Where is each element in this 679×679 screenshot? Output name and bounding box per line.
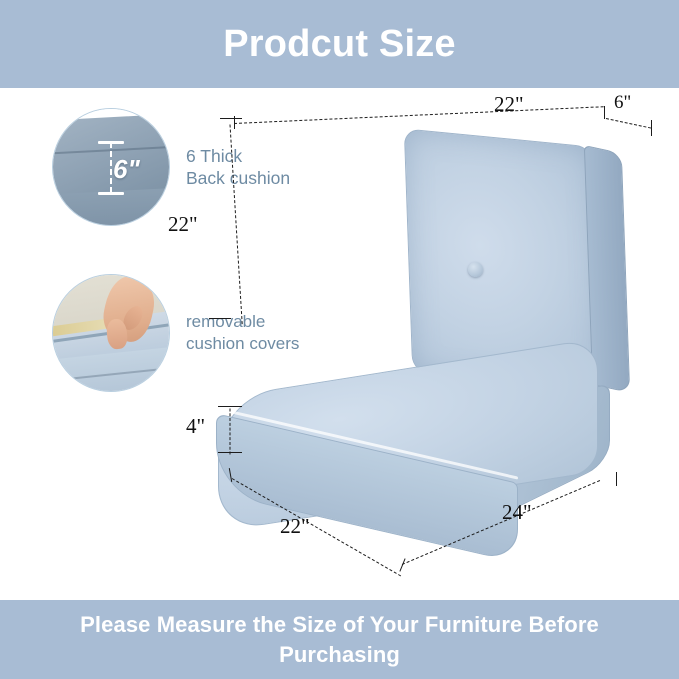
back-cushion-button bbox=[468, 262, 483, 277]
product-size-infographic: Prodcut Size 6" 6 Thick Back cushion bbox=[0, 0, 679, 679]
dimension-back-width-label: 22" bbox=[494, 92, 524, 117]
zipper-hand-photo bbox=[52, 274, 170, 392]
dimension-seat-width-label: 24" bbox=[502, 500, 532, 525]
cushion-thickness-photo: 6" bbox=[52, 108, 170, 226]
dimension-dashed-line bbox=[110, 142, 112, 193]
product-illustration: 22" 6" 22" 4" 22" bbox=[196, 96, 666, 596]
dimension-back-depth-label: 6" bbox=[614, 92, 631, 114]
footer-message: Please Measure the Size of Your Furnitur… bbox=[0, 610, 679, 669]
footer-banner: Please Measure the Size of Your Furnitur… bbox=[0, 600, 679, 679]
page-title: Prodcut Size bbox=[223, 25, 456, 63]
dimension-back-height-label: 22" bbox=[168, 212, 198, 237]
photo-dimension-label: 6" bbox=[113, 154, 140, 185]
dimension-seat-depth-label: 22" bbox=[280, 514, 310, 539]
header-banner: Prodcut Size bbox=[0, 0, 679, 88]
dimension-seat-height-label: 4" bbox=[186, 414, 205, 439]
dimension-cap-bottom bbox=[98, 192, 124, 195]
